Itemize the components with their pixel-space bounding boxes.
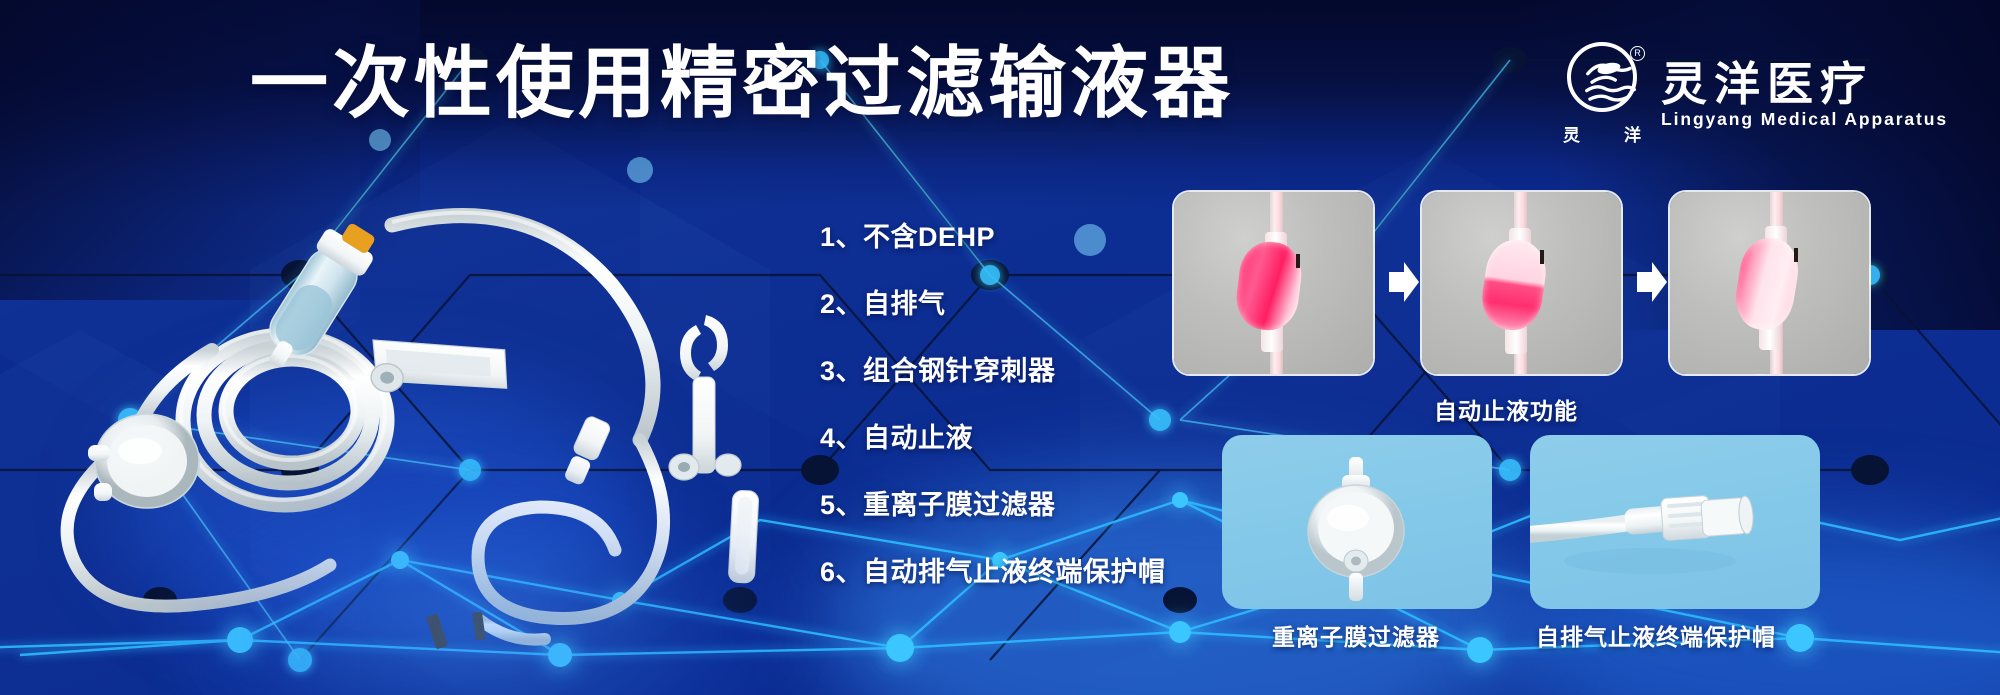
logo-char-left: 灵 — [1563, 121, 1580, 146]
main-product-photo — [40, 165, 800, 665]
filter-photo-art — [1222, 435, 1492, 609]
company-name-en: Lingyang Medical Apparatus — [1661, 111, 1948, 129]
stop-valve-body — [1731, 234, 1803, 334]
product-card-endcap-caption: 自排气止液终端保护帽 — [1536, 618, 1776, 652]
sequence-photo-3 — [1668, 190, 1871, 376]
stop-valve-body — [1233, 239, 1305, 334]
sequence-photo-1 — [1172, 190, 1375, 376]
sequence-arrow-2-icon — [1637, 262, 1667, 302]
sequence-caption: 自动止液功能 — [1434, 392, 1578, 426]
valve-marker — [1296, 254, 1300, 268]
valve-marker — [1540, 250, 1544, 264]
product-card-filter — [1222, 435, 1492, 609]
product-card-filter-caption: 重离子膜过滤器 — [1272, 618, 1440, 652]
valve-marker — [1794, 248, 1798, 262]
logo-chinese-chars: 灵 洋 — [1559, 121, 1645, 146]
feature-item-4: 4、自动止液 — [820, 416, 1166, 455]
feature-list: 1、不含DEHP 2、自排气 3、组合钢针穿刺器 4、自动止液 5、重离子膜过滤… — [820, 215, 1166, 589]
logo-emblem-icon: R 灵 洋 — [1559, 42, 1645, 146]
brand-logo: R 灵 洋 灵洋医疗 Lingyang Medical Apparatus — [1559, 42, 1948, 146]
feature-item-6: 6、自动排气止液终端保护帽 — [820, 550, 1166, 589]
logo-char-right: 洋 — [1624, 121, 1641, 146]
product-card-endcap — [1530, 435, 1820, 609]
registered-trademark-icon: R — [1630, 46, 1645, 61]
sequence-photo-2 — [1420, 190, 1623, 376]
product-banner: 一次性使用精密过滤输液器 R 灵 洋 灵洋医疗 Lingyang Medic — [0, 0, 2000, 695]
feature-item-3: 3、组合钢针穿刺器 — [820, 349, 1166, 388]
feature-item-1: 1、不含DEHP — [820, 215, 1166, 254]
endcap-photo-art — [1530, 435, 1820, 609]
sequence-arrow-1-icon — [1389, 262, 1419, 302]
feature-item-5: 5、重离子膜过滤器 — [820, 483, 1166, 522]
brand-text: 灵洋医疗 Lingyang Medical Apparatus — [1661, 60, 1948, 129]
company-name-cn: 灵洋医疗 — [1661, 60, 1948, 108]
feature-item-2: 2、自排气 — [820, 282, 1166, 321]
page-title: 一次性使用精密过滤输液器 — [250, 44, 1234, 122]
